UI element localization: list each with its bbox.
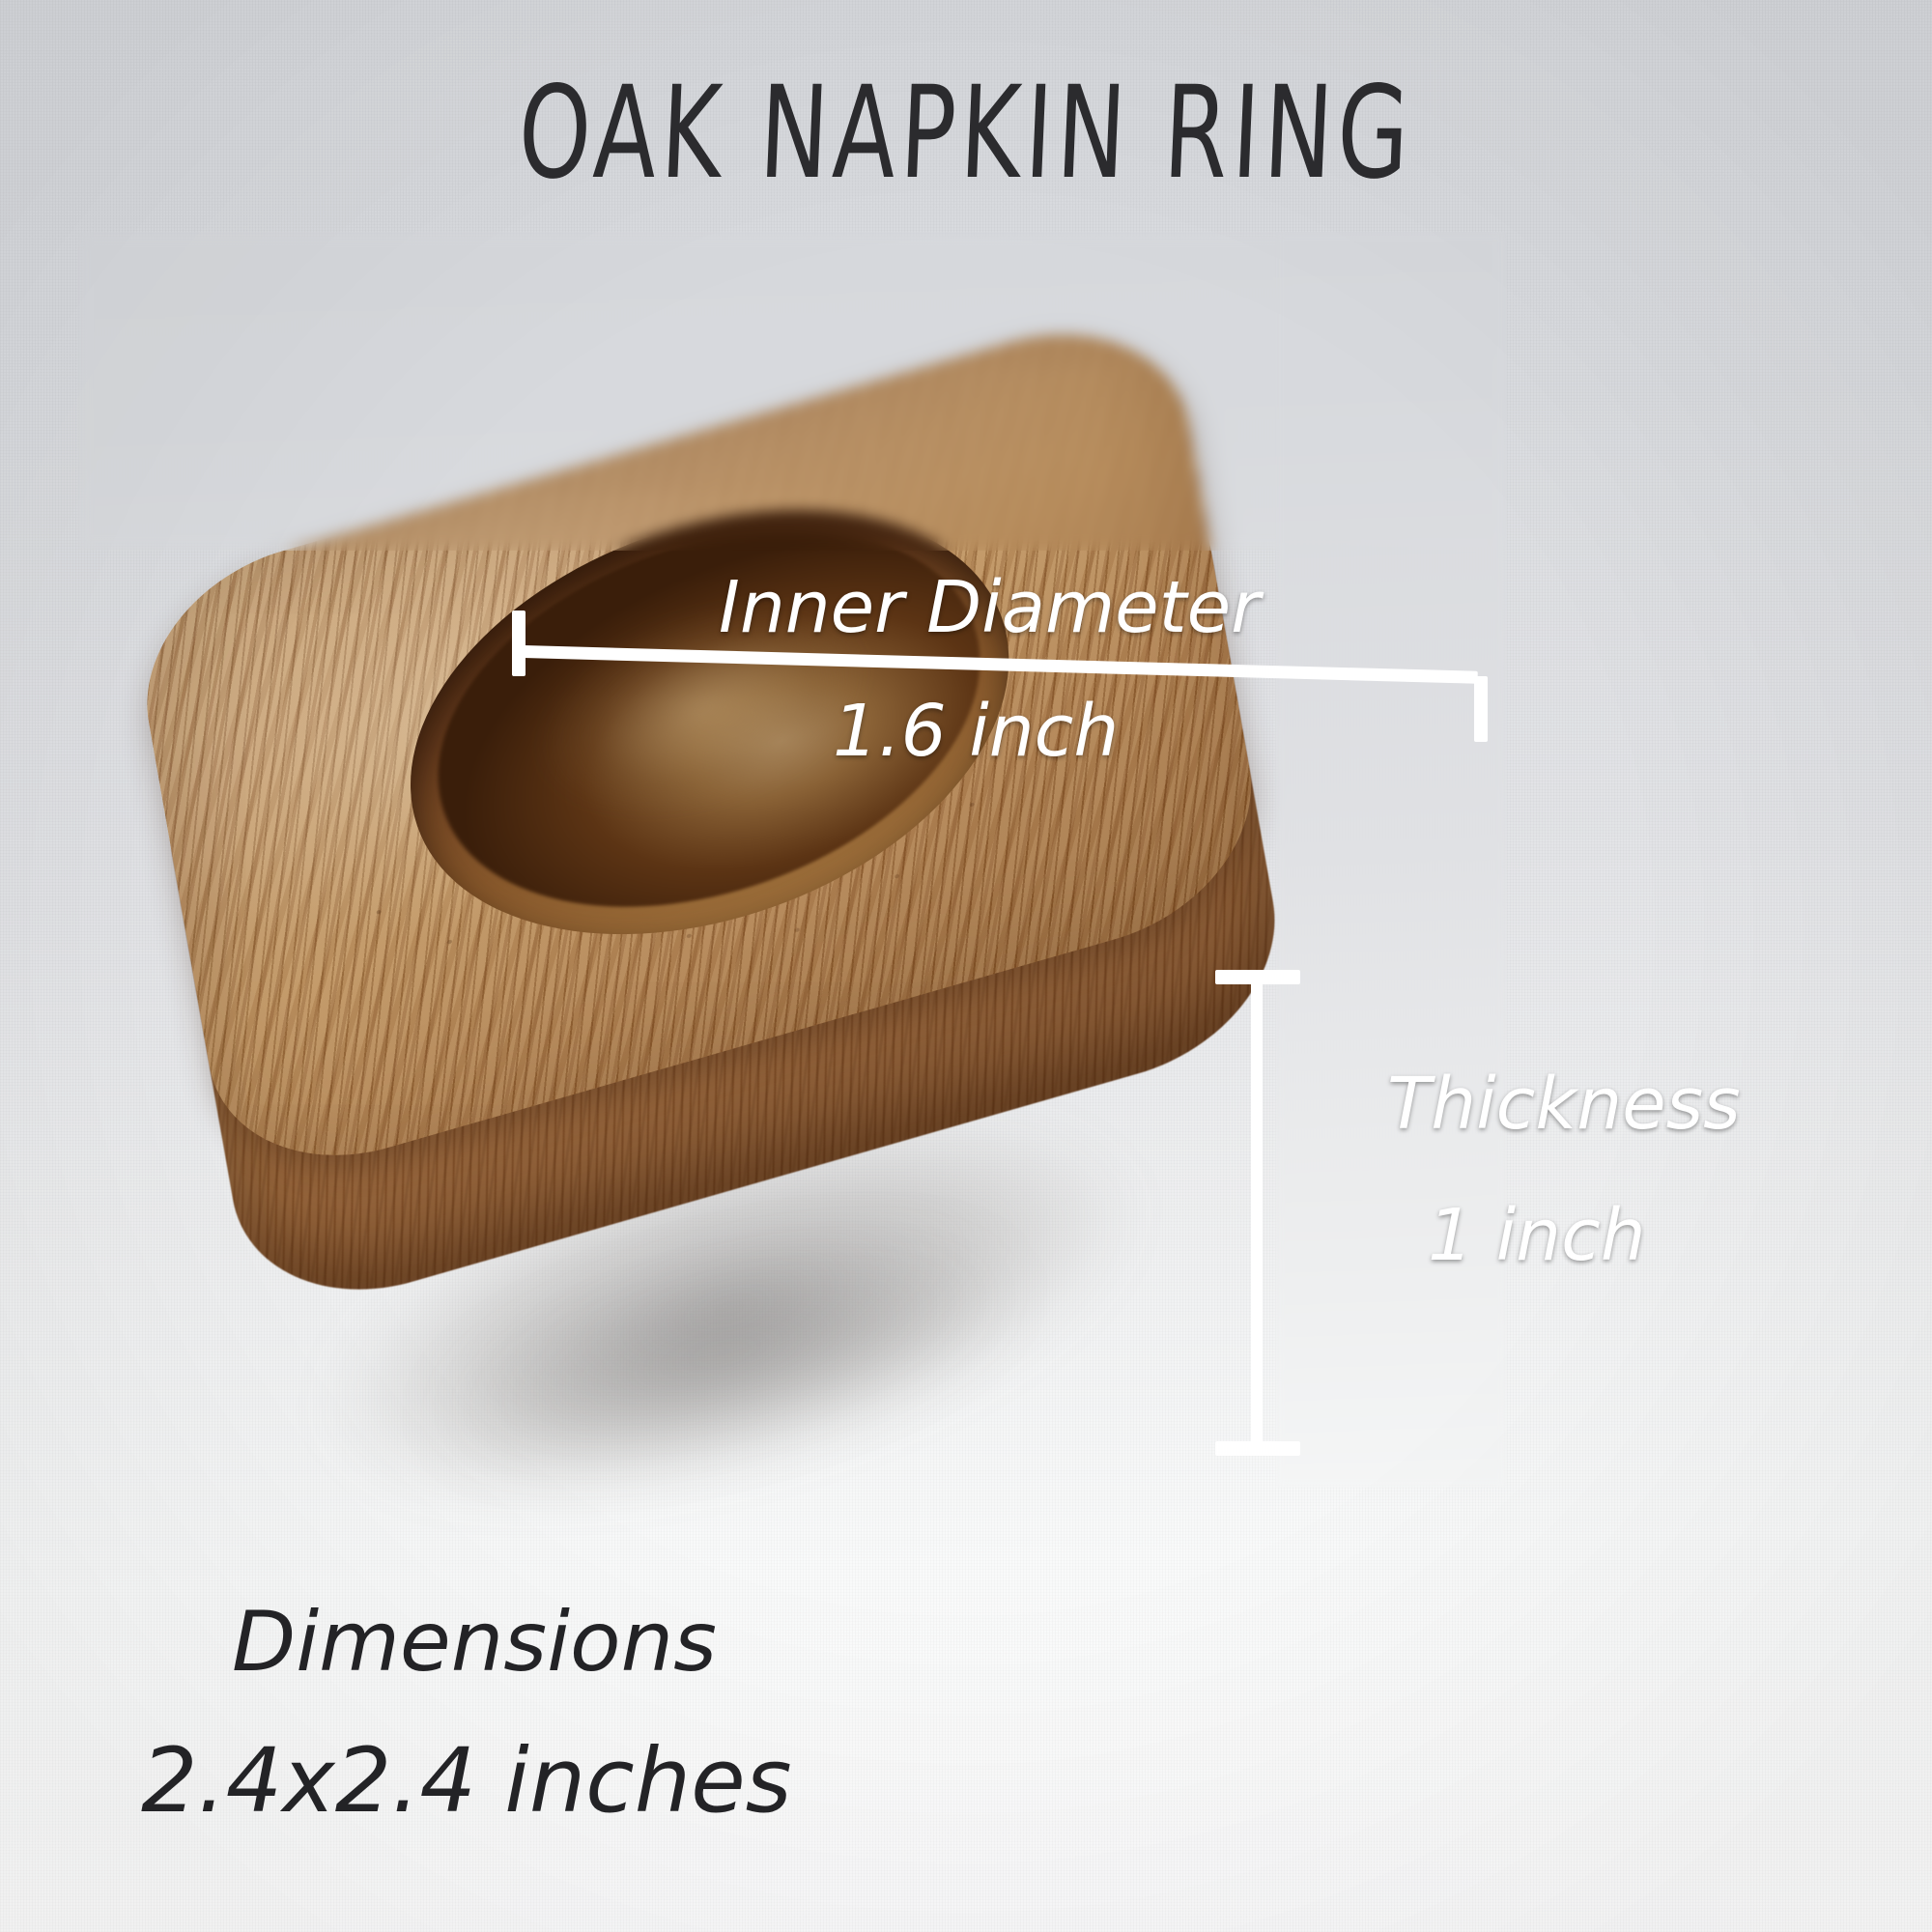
dimensions-label: Dimensions: [232, 1594, 717, 1690]
page-title: OAK NAPKIN RING: [190, 70, 1742, 197]
thickness-dimension-line: [1251, 978, 1263, 1453]
inner-diameter-right-end-cap: [1474, 676, 1488, 742]
oak-napkin-ring-photo: [77, 232, 1507, 1488]
inner-diameter-label: Inner Diameter: [719, 566, 1261, 649]
thickness-bottom-end-cap: [1215, 1441, 1300, 1456]
thickness-value: 1 inch: [1428, 1194, 1646, 1277]
inner-diameter-left-end-cap: [512, 611, 526, 676]
thickness-top-end-cap: [1215, 970, 1300, 984]
thickness-label: Thickness: [1387, 1063, 1741, 1146]
dimensions-value: 2.4x2.4 inches: [141, 1729, 792, 1833]
inner-diameter-value: 1.6 inch: [833, 690, 1119, 773]
product-image-canvas: OAK NAPKIN RING Inner Diameter 1.6 inch …: [0, 0, 1932, 1932]
